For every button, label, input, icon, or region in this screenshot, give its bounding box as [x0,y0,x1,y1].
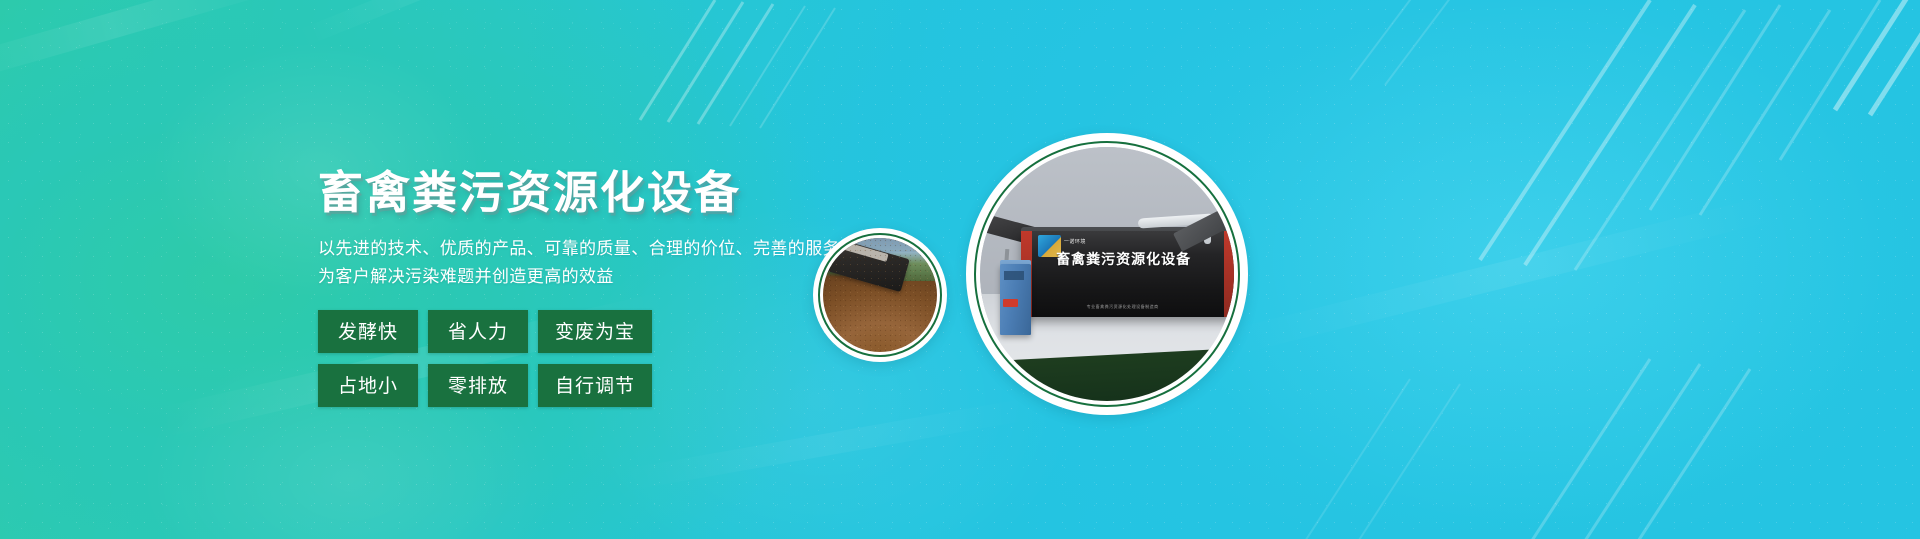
feature-tag-self-adjusting[interactable]: 自行调节 [538,364,652,407]
diagonal-lines-decor-top-right [1180,0,1920,290]
light-streak-4 [1227,195,1777,356]
banner-subtitle: 以先进的技术、优质的产品、可靠的质量、合理的价位、完善的服务 为客户解决污染难题… [318,236,878,291]
light-streak-5 [618,397,1035,492]
light-streak-3 [297,0,563,47]
light-streak-1 [0,0,290,87]
feature-tag-small-footprint[interactable]: 占地小 [318,364,418,407]
page-title: 畜禽粪污资源化设备 [318,168,878,218]
diagonal-lines-decor-center [620,0,900,130]
equipment-unit-accent-right [1224,231,1234,317]
feature-tag-waste-to-treasure[interactable]: 变废为宝 [538,310,652,353]
equipment-unit-label: 畜禽粪污资源化设备 [1056,249,1191,269]
diagonal-lines-decor-bottom-right [1180,319,1800,539]
compost-photo-inner [823,238,937,352]
equipment-render: 一诺环境 畜禽粪污资源化设备 专业畜禽粪污资源化处理设备制造商 [980,147,1234,401]
feature-tag-list: 发酵快 省人力 变废为宝 占地小 零排放 自行调节 [318,310,670,407]
subtitle-line-1: 以先进的技术、优质的产品、可靠的质量、合理的价位、完善的服务 [318,236,878,264]
compost-texture-grain [823,238,937,352]
control-cabinet-button [1003,299,1018,307]
background-noise-texture [0,0,1920,539]
compost-pile-photo [823,238,937,352]
compost-photo-ring [818,233,942,357]
banner-content: 畜禽粪污资源化设备 以先进的技术、优质的产品、可靠的质量、合理的价位、完善的服务… [318,168,878,407]
feature-tag-fast-fermentation[interactable]: 发酵快 [318,310,418,353]
subtitle-line-2: 为客户解决污染难题并创造更高的效益 [318,264,878,292]
compost-photo-circle [813,228,947,362]
background-glow-right [1180,0,1880,520]
control-cabinet-screen [1004,271,1024,280]
feature-tag-zero-emission[interactable]: 零排放 [428,364,528,407]
feature-tag-labor-saving[interactable]: 省人力 [428,310,528,353]
equipment-photo-inner: 一诺环境 畜禽粪污资源化设备 专业畜禽粪污资源化处理设备制造商 [980,147,1234,401]
equipment-unit-sublabel: 专业畜禽粪污资源化处理设备制造商 [1087,304,1159,310]
equipment-photo-ring: 一诺环境 畜禽粪污资源化设备 专业畜禽粪污资源化处理设备制造商 [974,141,1240,407]
promotional-banner: 畜禽粪污资源化设备 以先进的技术、优质的产品、可靠的质量、合理的价位、完善的服务… [0,0,1920,539]
equipment-photo-circle: 一诺环境 畜禽粪污资源化设备 专业畜禽粪污资源化处理设备制造商 [966,133,1248,415]
brand-logo-label: 一诺环境 [1064,238,1086,245]
